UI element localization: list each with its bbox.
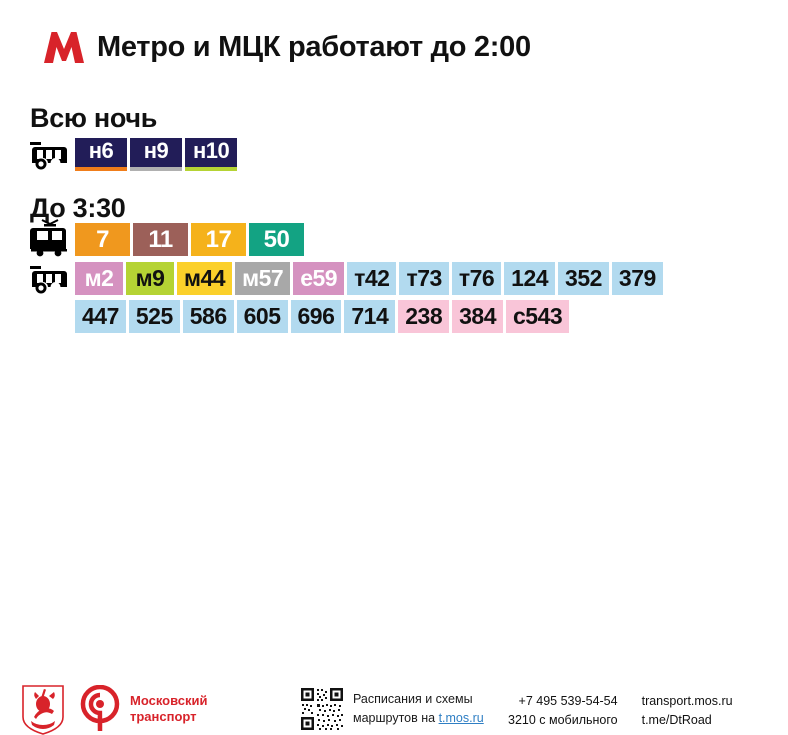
route-badge[interactable]: т73 [399, 262, 448, 295]
moscow-coat-of-arms [22, 685, 64, 735]
route-badge[interactable]: м2 [75, 262, 123, 295]
night-bus-row: н6 н9 н10 [28, 138, 237, 171]
route-badge[interactable]: м57 [235, 262, 290, 295]
transport-name-line2: транспорт [130, 709, 208, 725]
bus-badge-list-row1: м2 м9 м44 м57 е59 т42 т73 т76 124 352 37… [75, 262, 663, 295]
phone-number: +7 495 539-54-54 [508, 692, 618, 711]
transport-logo-text: Московский транспорт [130, 693, 208, 726]
footer: Московский транспорт [0, 340, 788, 409]
bus-icon [28, 262, 70, 295]
route-badge[interactable]: 586 [183, 300, 234, 333]
route-badge[interactable]: н6 [75, 138, 127, 171]
phone-mobile: 3210 с мобильного [508, 711, 618, 730]
bus-badge-list-row2: 447 525 586 605 696 714 238 384 с543 [75, 300, 569, 333]
qr-caption-line2: маршрутов на t.mos.ru [353, 709, 484, 728]
tram-badge-list: 7 11 17 50 [75, 223, 304, 256]
route-badge[interactable]: н10 [185, 138, 237, 171]
section-heading-night: Всю ночь [30, 103, 157, 134]
route-badge[interactable]: 714 [344, 300, 395, 333]
qr-caption-line1: Расписания и схемы [353, 690, 484, 709]
transport-name-line1: Московский [130, 693, 208, 709]
qr-caption: Расписания и схемы маршрутов на t.mos.ru [353, 690, 484, 728]
route-badge[interactable]: м9 [126, 262, 174, 295]
tram-icon [28, 219, 70, 257]
route-badge[interactable]: с543 [506, 300, 569, 333]
route-badge[interactable]: 124 [504, 262, 555, 295]
metro-m-logo [44, 32, 84, 63]
night-badge-list: н6 н9 н10 [75, 138, 237, 171]
route-badge[interactable]: 7 [75, 223, 130, 256]
tmos-link[interactable]: t.mos.ru [439, 711, 484, 725]
tram-row: 7 11 17 50 [28, 223, 304, 257]
web-column: transport.mos.ru t.me/DtRoad [642, 692, 733, 731]
bus-row: м2 м9 м44 м57 е59 т42 т73 т76 124 352 37… [28, 262, 663, 295]
route-badge[interactable]: 17 [191, 223, 246, 256]
website-link[interactable]: transport.mos.ru [642, 692, 733, 711]
phone-column: +7 495 539-54-54 3210 с мобильного [508, 692, 618, 731]
route-badge[interactable]: 525 [129, 300, 180, 333]
route-badge[interactable]: н9 [130, 138, 182, 171]
route-badge[interactable]: т42 [347, 262, 396, 295]
route-badge[interactable]: е59 [293, 262, 344, 295]
route-badge[interactable]: 238 [398, 300, 449, 333]
route-badge[interactable]: т76 [452, 262, 501, 295]
bus-row-continued: 447 525 586 605 696 714 238 384 с543 [75, 300, 569, 333]
page-title: Метро и МЦК работают до 2:00 [97, 31, 531, 64]
route-badge[interactable]: 384 [452, 300, 503, 333]
contact-info: +7 495 539-54-54 3210 с мобильного trans… [508, 692, 733, 731]
route-badge[interactable]: 379 [612, 262, 663, 295]
route-badge[interactable]: 447 [75, 300, 126, 333]
transport-pin-icon [78, 685, 122, 733]
route-badge[interactable]: 50 [249, 223, 304, 256]
qr-info-block: Расписания и схемы маршрутов на t.mos.ru [300, 687, 484, 731]
page-header: Метро и МЦК работают до 2:00 [44, 31, 531, 64]
route-badge[interactable]: 11 [133, 223, 188, 256]
qr-code-icon[interactable] [300, 687, 344, 731]
route-badge[interactable]: м44 [177, 262, 232, 295]
qr-caption-prefix: маршрутов на [353, 711, 439, 725]
route-badge[interactable]: 352 [558, 262, 609, 295]
bus-icon [28, 138, 70, 171]
route-badge[interactable]: 605 [237, 300, 288, 333]
telegram-link[interactable]: t.me/DtRoad [642, 711, 733, 730]
moscow-transport-logo: Московский транспорт [78, 685, 208, 733]
route-badge[interactable]: 696 [291, 300, 342, 333]
